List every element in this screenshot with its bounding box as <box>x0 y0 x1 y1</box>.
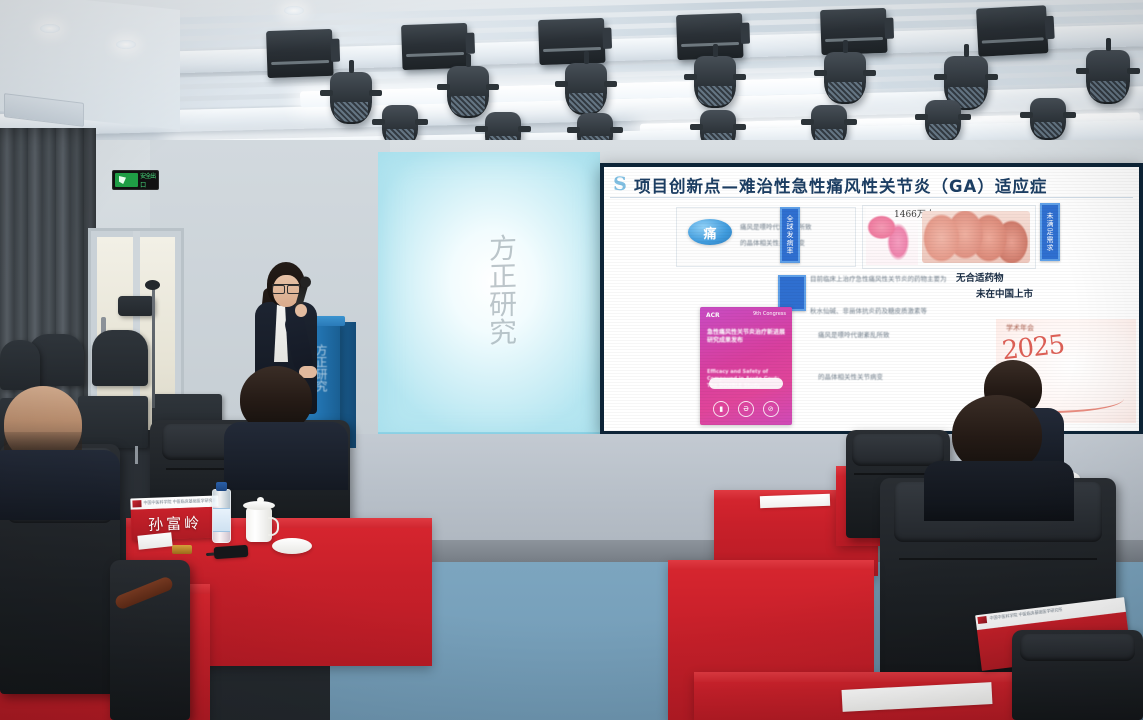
poster-brand: ACR <box>706 312 720 319</box>
slide-tab-right: 未满足需求 <box>1040 203 1060 261</box>
slide-middle-sharp-2: 未在中国上市 <box>976 289 1033 301</box>
saucer <box>272 538 312 554</box>
slide-sub-blur: 秋水仙碱、非甾体抗炎药及糖皮质激素等 <box>810 307 990 315</box>
chair-armrest <box>114 575 175 610</box>
slide-right-blur-2: 的晶体相关性关节病变 <box>818 373 948 381</box>
par-light-icon <box>694 56 736 108</box>
downlight-icon <box>284 6 304 15</box>
led-display: S 项目创新点—难治性急性痛风性关节炎（GA）适应症 痛 痛风是嘌呤代谢紊乱所致… <box>600 163 1143 435</box>
stage-light-box-icon <box>976 5 1048 57</box>
presenter-hand <box>295 304 307 317</box>
org-logo-icon <box>132 500 141 507</box>
par-light-icon <box>1030 98 1066 140</box>
stage-light-box-icon <box>401 23 469 70</box>
poster-bar <box>709 378 783 389</box>
chart-icon: ▮ <box>713 401 729 417</box>
stage-light-box-icon <box>676 13 744 60</box>
name-card-left: 中国中医科学院 中医临床基础医学研究所 孙富岭 <box>130 495 219 540</box>
slide-middle-sharp-1: 无合适药物 <box>956 273 1004 285</box>
downlight-icon <box>40 24 60 33</box>
chair-seam <box>899 558 1097 560</box>
conference-hall-photo: 安全出口 方正研究 S 项目创新点—难治性急性痛风性关节炎（GA）适应症 痛 痛… <box>0 0 1143 720</box>
exit-sign-label: 安全出口 <box>140 171 158 189</box>
par-light-icon <box>824 52 866 104</box>
slide-title: 项目创新点—难治性急性痛风性关节炎（GA）适应症 <box>634 173 1133 197</box>
pain-pill-graphic: 痛 <box>688 219 732 245</box>
slide-title-divider <box>610 197 1133 198</box>
table-surface <box>668 560 874 570</box>
glasses-icon <box>272 284 300 292</box>
stage-light-box-icon <box>266 29 334 78</box>
stacked-chair <box>92 330 148 386</box>
deco-caption: 学术年会 <box>1006 323 1034 333</box>
shield-icon: Ə <box>738 401 754 417</box>
org-logo-icon <box>977 616 987 624</box>
table-badge <box>172 545 192 554</box>
microphone-stand <box>152 288 155 408</box>
person-shoulders <box>224 422 348 490</box>
equipment-case <box>118 296 154 316</box>
person-shoulders <box>924 461 1074 521</box>
par-light-icon <box>565 63 607 115</box>
study-poster: ACR 9th Congress 急性痛风性关节炎治疗新进展研究成果发布 Eff… <box>700 307 792 425</box>
audience-member <box>930 395 1060 515</box>
gout-hand-photo <box>922 211 1030 263</box>
chair-headrest <box>1020 634 1135 661</box>
document-icon <box>778 275 806 311</box>
smartphone <box>214 545 249 559</box>
poster-brand-right: 9th Congress <box>753 312 786 317</box>
stage-light-box-icon <box>820 8 888 55</box>
table-surface <box>694 672 1024 682</box>
projection-backdrop: 方正研究 <box>378 152 600 440</box>
par-light-icon <box>330 72 372 124</box>
exit-sign: 安全出口 <box>112 170 159 190</box>
backdrop-calligraphy: 方正研究 <box>460 179 514 401</box>
handout-paper <box>760 494 830 508</box>
audience-chair-arm <box>110 560 190 720</box>
audience-member <box>0 386 100 516</box>
teacup-knob <box>257 497 264 503</box>
par-light-icon <box>925 100 961 142</box>
bottle-label <box>213 508 230 532</box>
stacked-chair <box>0 340 40 390</box>
par-light-icon <box>1086 50 1130 104</box>
audience-chair <box>1012 630 1143 720</box>
stage-light-box-icon <box>538 18 606 65</box>
downlight-icon <box>116 40 136 49</box>
slide-tab-left: 全球发病率 <box>780 207 800 263</box>
presentation-slide: S 项目创新点—难治性急性痛风性关节炎（GA）适应症 痛 痛风是嘌呤代谢紊乱所致… <box>604 167 1139 431</box>
running-man-icon <box>115 173 138 187</box>
par-light-icon <box>447 66 489 118</box>
teacup <box>246 508 272 542</box>
poster-title: 急性痛风性关节炎治疗新进展研究成果发布 <box>707 329 785 345</box>
slide-right-blur-1: 痛风是嘌呤代谢紊乱所致 <box>818 331 968 339</box>
person-shoulders <box>0 450 120 520</box>
bottle-cap <box>216 482 227 491</box>
water-bottle <box>212 489 231 543</box>
slide-logo-icon: S <box>611 174 629 194</box>
audience-member <box>232 366 338 486</box>
poster-icon-row: ▮ Ə ⊘ <box>709 401 783 417</box>
name-card-name: 孙富岭 <box>148 512 203 535</box>
circle-slash-icon: ⊘ <box>763 401 779 417</box>
name-card-org: 中国中医科学院 中医临床基础医学研究所 <box>143 498 215 506</box>
